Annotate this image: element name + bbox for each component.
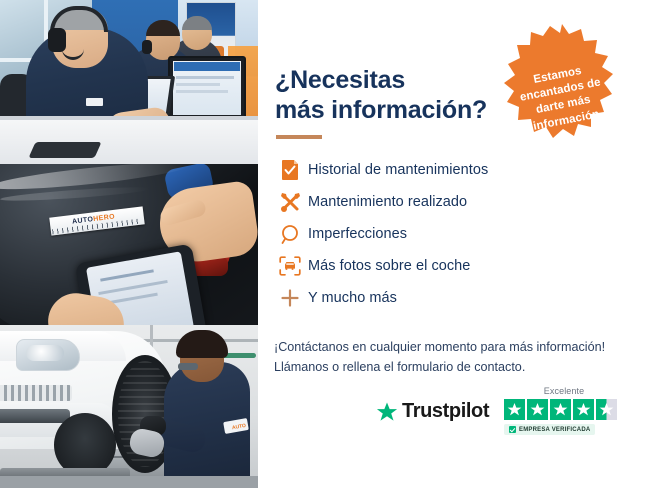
list-item: Más fotos sobre el coche [272,250,632,282]
star-3 [550,399,571,420]
contact-line-1: ¡Contáctanos en cualquier momento para m… [274,340,605,354]
verified-company-badge: EMPRESA VERIFICADA [504,424,595,435]
magnifier-icon [272,222,308,246]
list-item-label: Más fotos sobre el coche [308,258,470,274]
clipboard-check-icon [272,158,308,182]
verified-check-icon [509,426,516,433]
list-item: Historial de mantenimientos [272,154,632,186]
trustpilot-logo: Trustpilot [376,400,489,423]
trustpilot-rating: Excelente EMPRESA VERIFICADA [504,386,624,438]
list-item-label: Y mucho más [308,290,397,306]
car-inspection-ruler-photo: AUTOHERO [0,164,258,325]
star-4 [573,399,594,420]
page-title: ¿Necesitas más información? [275,65,525,126]
contact-line-2: Llámanos o rellena el formulario de cont… [274,360,525,374]
contact-paragraph: ¡Contáctanos en cualquier momento para m… [274,337,644,378]
support-badge: Estamos encantados de darte más informac… [499,22,625,148]
headset-icon [499,22,525,44]
list-item-label: Historial de mantenimientos [308,162,488,178]
title-line-2: más información? [275,96,487,124]
tools-cross-icon [272,190,308,214]
title-line-1: ¿Necesitas [275,66,405,94]
trustpilot-star-icon [376,401,398,423]
list-item: Mantenimiento realizado [272,186,632,218]
list-item-label: Mantenimiento realizado [308,194,467,210]
promo-card: AUTOHERO AUTO ¿Necesitas más información… [0,0,650,488]
list-item: Imperfecciones [272,218,632,250]
star-rating [504,399,624,420]
list-item: Y mucho más [272,282,632,314]
rating-label: Excelente [504,386,624,396]
mechanic-wheel-photo: AUTO [0,325,258,488]
title-underline [276,135,322,139]
trustpilot-widget[interactable]: Trustpilot Excelente EMPRESA VERIFICADA [376,386,626,448]
verified-label: EMPRESA VERIFICADA [519,427,590,433]
car-photo-frame-icon [272,254,308,278]
star-2 [527,399,548,420]
star-5-half [596,399,617,420]
star-1 [504,399,525,420]
list-item-label: Imperfecciones [308,226,407,242]
plus-icon [272,286,308,310]
photo-column: AUTOHERO AUTO [0,0,258,488]
feature-list: Historial de mantenimientos Mantenimient… [272,154,632,314]
content-panel: ¿Necesitas más información? Estamos enca… [258,0,650,488]
call-center-agent-photo [0,0,258,164]
trustpilot-wordmark: Trustpilot [402,400,489,423]
